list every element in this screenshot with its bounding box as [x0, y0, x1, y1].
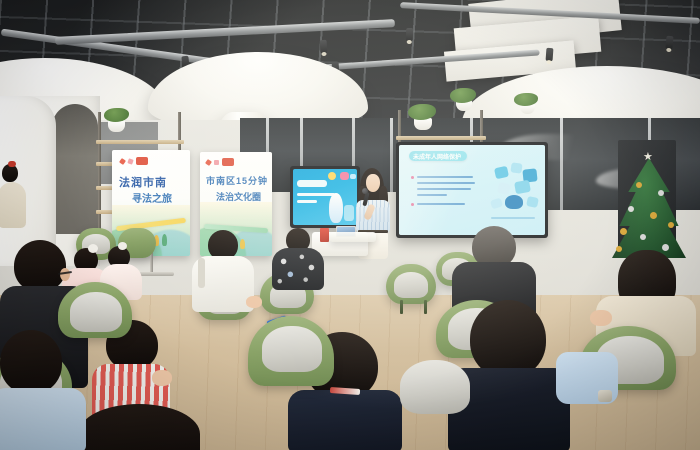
- track-light-icon: [546, 48, 554, 61]
- chair-cushion: [394, 272, 428, 298]
- cyan-promo-screen: [293, 169, 357, 225]
- banner-left-title: 法润市南: [119, 174, 167, 190]
- side-table: [330, 232, 376, 242]
- tree-star-icon: ★: [643, 152, 653, 163]
- slide-bullet-marker: [411, 203, 414, 206]
- promo-screen-bezel: [290, 166, 360, 228]
- shelf-bar: [396, 136, 486, 140]
- slide-illustration-shape: [514, 180, 531, 194]
- slide-title-text: 未成年人网络保护: [413, 152, 461, 161]
- tree-ornament: [640, 234, 646, 240]
- audience-head: [14, 240, 66, 292]
- banner-figure: [162, 234, 167, 246]
- slide-illustration-caption: [491, 217, 535, 219]
- child-body: [288, 390, 402, 450]
- tree-ornament: [616, 246, 622, 252]
- child-hand: [152, 370, 172, 386]
- slide-bullet-marker: [411, 176, 414, 179]
- slide-illustration-figure: [505, 195, 523, 209]
- speaker-face: [366, 174, 380, 192]
- banner-dot: [127, 158, 133, 164]
- banner-badge: [222, 158, 234, 166]
- promo-sun-icon: [328, 172, 336, 180]
- promo-badge-icon: [340, 172, 349, 180]
- wristwatch: [598, 390, 612, 402]
- child-body: [0, 388, 86, 450]
- slide-illustration-shape: [490, 198, 503, 210]
- promo-mascot: [329, 193, 343, 223]
- promo-heading-line: [297, 193, 335, 196]
- slide-illustration-shape: [494, 166, 509, 179]
- slide-illustration-shape: [526, 196, 539, 208]
- promo-wave-icon: [350, 174, 356, 179]
- event-photo-scene: ★ 法润市南 寻法之旅 市南区15分钟 法治文化圈: [0, 0, 700, 450]
- presentation-slide: 未成年人网络保护: [399, 145, 545, 235]
- slide-illustration-shape: [497, 182, 511, 196]
- banner-right-title: 市南区15分钟: [206, 174, 268, 187]
- standing-person-body: [0, 182, 26, 228]
- chair-leg: [424, 300, 427, 314]
- banner-dot: [214, 160, 219, 165]
- slide-bullet-line: [417, 194, 447, 196]
- arch-opening: [52, 104, 98, 234]
- hair-accessory: [8, 161, 16, 167]
- banner-dot: [205, 159, 212, 166]
- floral-pattern: [274, 250, 322, 288]
- chair-cushion: [70, 292, 122, 332]
- slide-bullet-line: [417, 182, 475, 184]
- tree-ornament: [662, 244, 669, 251]
- audience-hand: [590, 310, 612, 326]
- tree-ornament: [628, 206, 634, 212]
- tree-ornament: [650, 212, 657, 219]
- track-light-icon: [320, 40, 328, 53]
- shelf-post: [98, 112, 101, 232]
- microphone-head: [362, 188, 368, 194]
- window-mullion: [390, 118, 393, 192]
- promo-heading-chip: [297, 180, 327, 187]
- tree-ornament: [636, 182, 642, 188]
- tree-ornament: [620, 228, 627, 235]
- banner-left-subtitle: 寻法之旅: [132, 190, 172, 205]
- banner-badge: [136, 157, 148, 165]
- slide-bullet-line: [417, 203, 465, 205]
- tree-ornament: [658, 190, 664, 196]
- audience-hand: [246, 296, 262, 308]
- child-head: [470, 300, 546, 378]
- track-light-icon: [665, 36, 673, 50]
- chair-cushion: [262, 326, 322, 372]
- promo-subheading-line: [297, 200, 317, 203]
- tank-strap: [198, 258, 205, 288]
- child-head: [0, 330, 62, 394]
- hair-tie: [88, 244, 98, 253]
- window-mullion: [560, 118, 563, 210]
- shelf-bar: [96, 140, 184, 144]
- banner-figure: [240, 239, 245, 249]
- slide-bullet-line: [417, 176, 473, 178]
- chair-leg: [400, 300, 403, 314]
- slide-bullet-line: [417, 188, 471, 190]
- red-object: [320, 228, 329, 242]
- banner-dot: [119, 158, 126, 165]
- promo-shape: [344, 205, 354, 221]
- hair-tie: [118, 242, 127, 250]
- track-light-icon: [406, 28, 413, 41]
- slide-illustration-shape: [510, 162, 522, 173]
- chair-cushion: [400, 360, 470, 414]
- tree-ornament: [668, 222, 674, 228]
- presentation-screen-bezel: 未成年人网络保护: [396, 142, 548, 238]
